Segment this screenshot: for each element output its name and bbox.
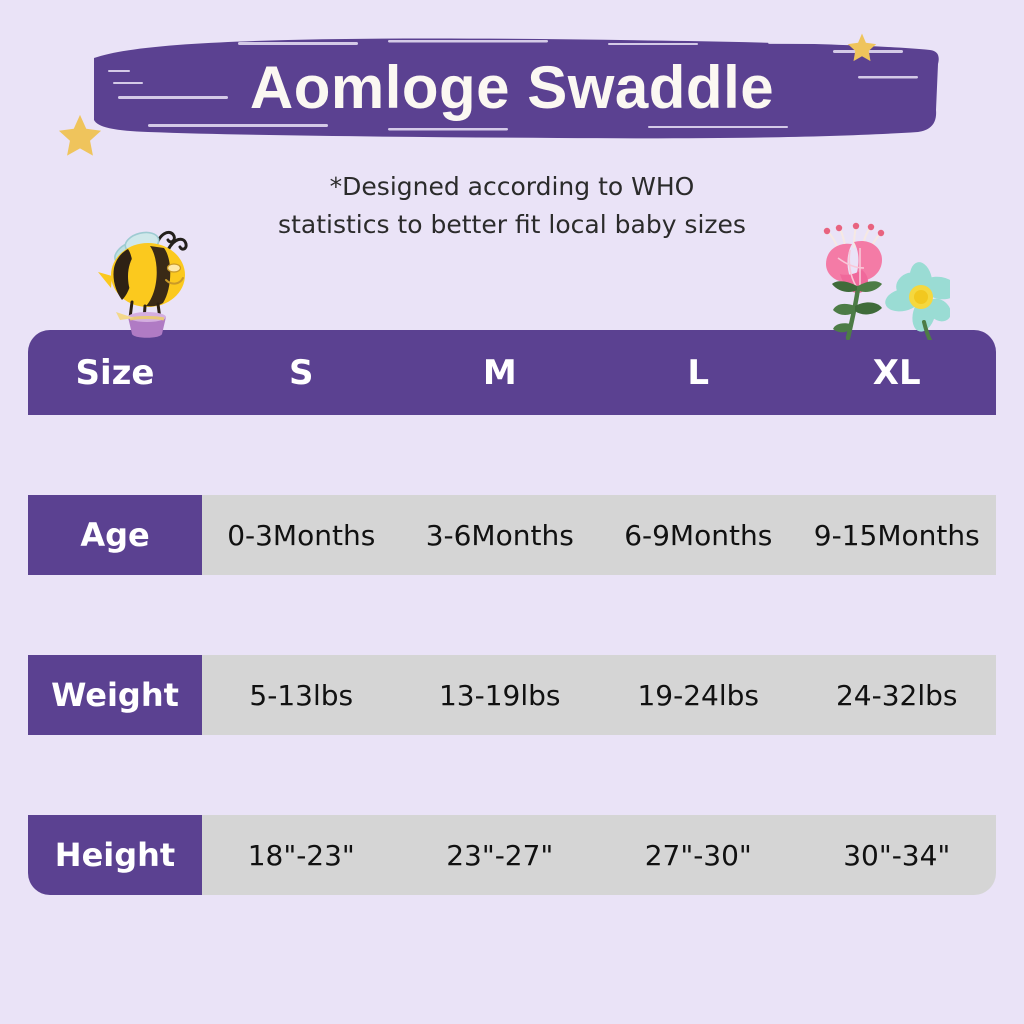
star-icon <box>845 30 879 64</box>
bee-icon <box>90 216 210 341</box>
cell-age-m: 3-6Months <box>401 495 600 575</box>
banner: Aomloge Swaddle <box>0 0 1024 170</box>
size-chart-table: Size S M L XL Age 0-3Months 3-6Months 6-… <box>28 330 996 895</box>
row-label-weight: Weight <box>28 655 202 735</box>
row-label-age: Age <box>28 495 202 575</box>
header-cell-l: L <box>599 330 798 415</box>
row-label-height: Height <box>28 815 202 895</box>
cell-height-m: 23"-27" <box>401 815 600 895</box>
table-row-weight: Weight 5-13lbs 13-19lbs 19-24lbs 24-32lb… <box>28 655 996 735</box>
row-values-height: 18"-23" 23"-27" 27"-30" 30"-34" <box>202 815 996 895</box>
cell-weight-xl: 24-32lbs <box>798 655 997 735</box>
cell-weight-m: 13-19lbs <box>401 655 600 735</box>
header-cell-xl: XL <box>798 330 997 415</box>
star-icon <box>57 112 103 158</box>
subtitle-line-1: *Designed according to WHO <box>0 168 1024 206</box>
spacer-row <box>28 415 996 495</box>
cell-height-xl: 30"-34" <box>798 815 997 895</box>
cell-height-s: 18"-23" <box>202 815 401 895</box>
row-values-weight: 5-13lbs 13-19lbs 19-24lbs 24-32lbs <box>202 655 996 735</box>
table-row-height: Height 18"-23" 23"-27" 27"-30" 30"-34" <box>28 815 996 895</box>
cell-weight-s: 5-13lbs <box>202 655 401 735</box>
cell-age-l: 6-9Months <box>599 495 798 575</box>
header-cell-size: Size <box>28 330 202 415</box>
flowers-icon <box>800 222 950 340</box>
cell-height-l: 27"-30" <box>599 815 798 895</box>
row-values-age: 0-3Months 3-6Months 6-9Months 9-15Months <box>202 495 996 575</box>
header-cell-m: M <box>401 330 600 415</box>
cell-age-xl: 9-15Months <box>798 495 997 575</box>
spacer-row <box>28 735 996 815</box>
header-cell-s: S <box>202 330 401 415</box>
table-header-row: Size S M L XL <box>28 330 996 415</box>
cell-weight-l: 19-24lbs <box>599 655 798 735</box>
cell-age-s: 0-3Months <box>202 495 401 575</box>
table-row-age: Age 0-3Months 3-6Months 6-9Months 9-15Mo… <box>28 495 996 575</box>
spacer-row <box>28 575 996 655</box>
